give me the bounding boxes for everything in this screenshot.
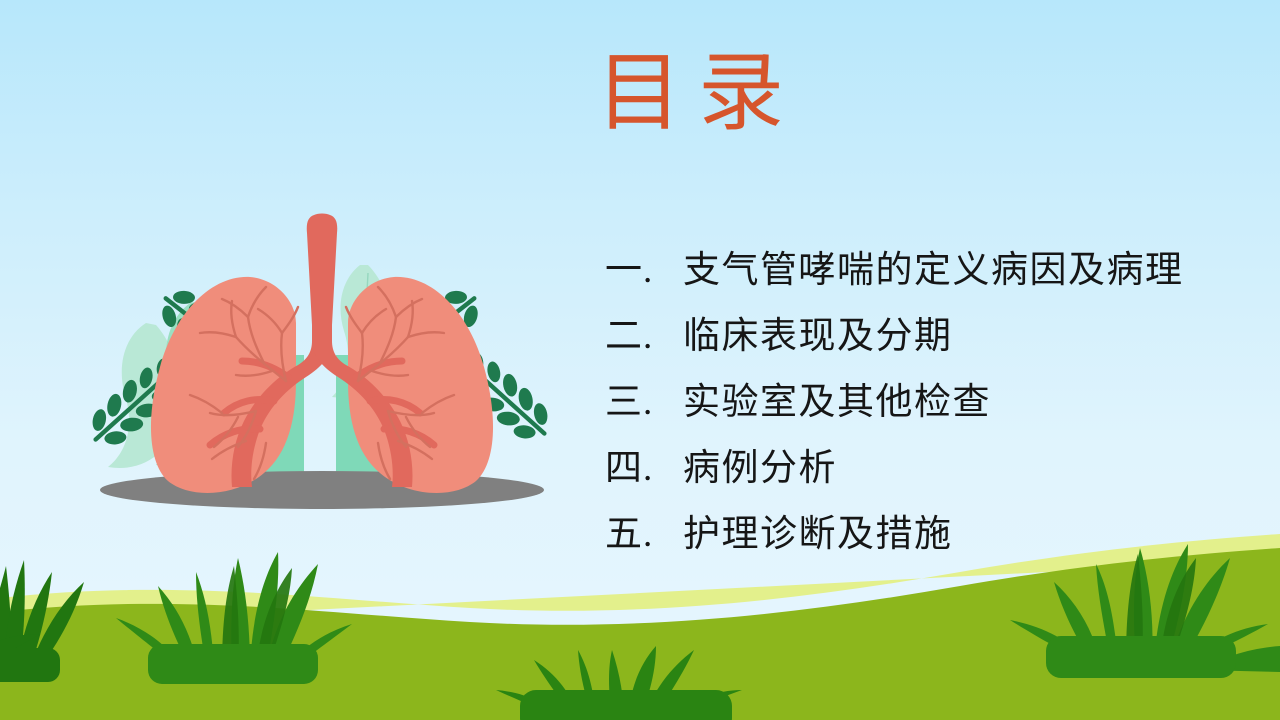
toc-item-number: 四.: [605, 436, 683, 502]
trachea: [307, 214, 337, 326]
toc-item-label: 病例分析: [683, 436, 837, 502]
toc-item-label: 实验室及其他检查: [683, 370, 991, 436]
toc-item-2[interactable]: 二. 临床表现及分期: [605, 304, 1265, 370]
toc-item-label: 临床表现及分期: [683, 304, 953, 370]
lungs-illustration: [60, 205, 580, 525]
grass-tuft-far-left: [0, 560, 84, 682]
toc-item-label: 护理诊断及措施: [683, 502, 953, 568]
table-of-contents: 一. 支气管哮喘的定义病因及病理 二. 临床表现及分期 三. 实验室及其他检查 …: [605, 238, 1265, 568]
toc-item-4[interactable]: 四. 病例分析: [605, 436, 1265, 502]
grass-tuft-center: [496, 646, 742, 720]
page-title: 目录: [455, 48, 925, 138]
hill-shape: [0, 548, 1280, 720]
toc-item-1[interactable]: 一. 支气管哮喘的定义病因及病理: [605, 238, 1265, 304]
toc-item-3[interactable]: 三. 实验室及其他检查: [605, 370, 1265, 436]
toc-item-number: 二.: [605, 304, 683, 370]
lungs-organ: [151, 214, 493, 493]
toc-item-5[interactable]: 五. 护理诊断及措施: [605, 502, 1265, 568]
toc-item-number: 三.: [605, 370, 683, 436]
grass-tuft-left: [116, 552, 352, 684]
toc-item-number: 五.: [605, 502, 683, 568]
toc-item-label: 支气管哮喘的定义病因及病理: [683, 238, 1184, 304]
presentation-slide: 目录 一. 支气管哮喘的定义病因及病理 二. 临床表现及分期 三. 实验室及其他…: [0, 0, 1280, 720]
toc-item-number: 一.: [605, 238, 683, 304]
